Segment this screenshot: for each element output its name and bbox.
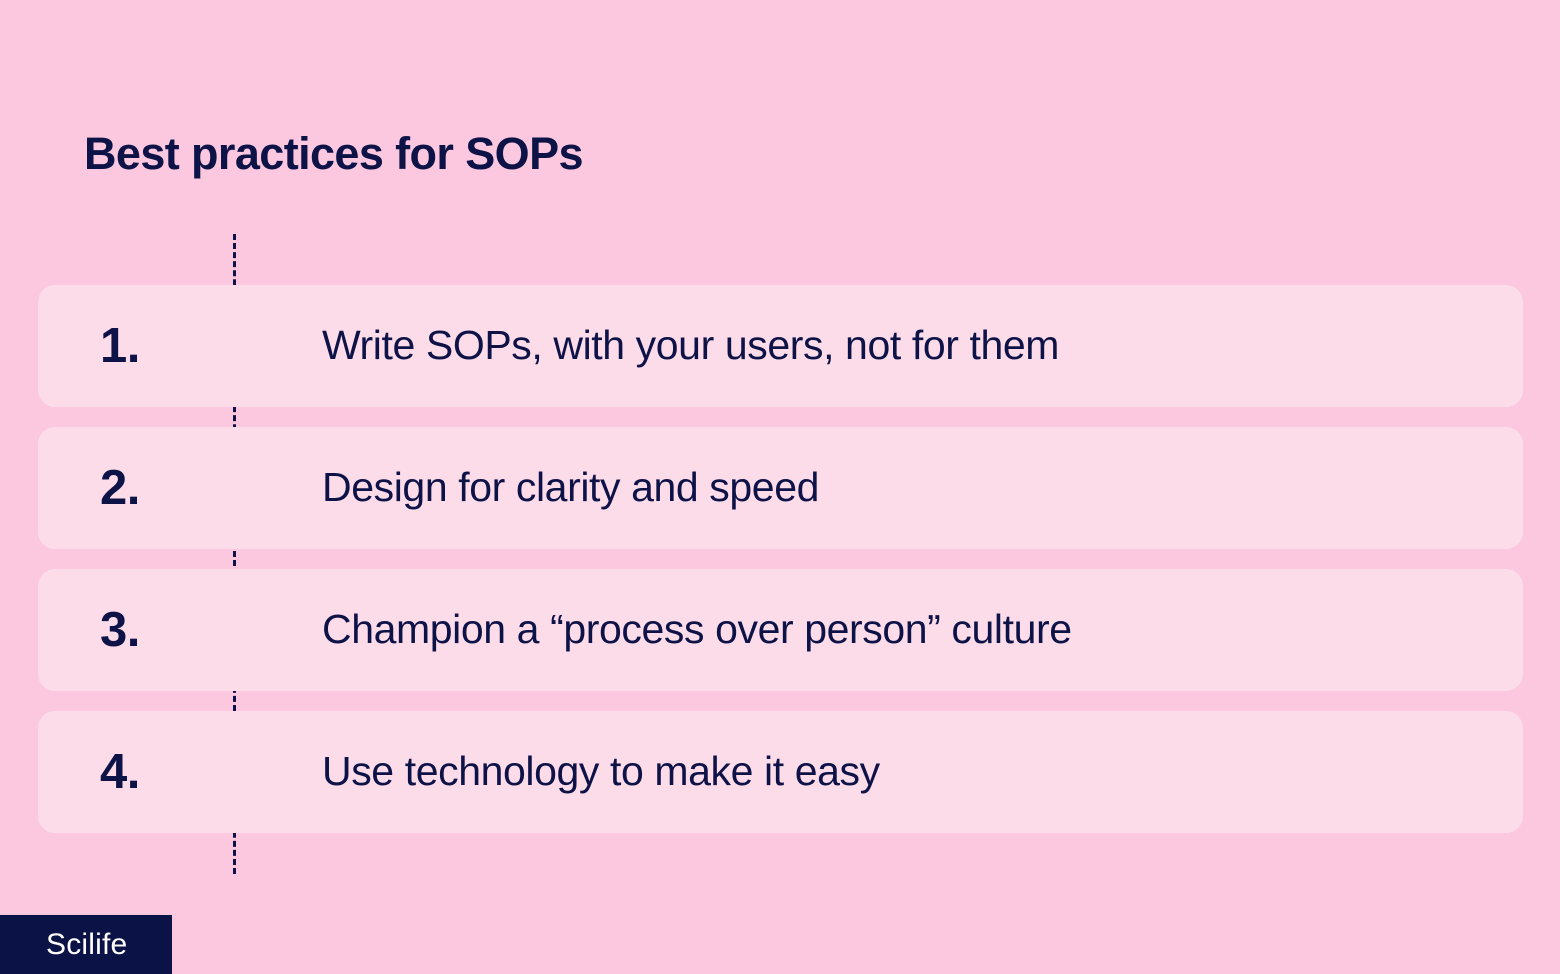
list-item-label: Use technology to make it easy (322, 748, 880, 795)
list-item: 2. Design for clarity and speed (38, 427, 1523, 549)
list-item-number: 3. (100, 606, 210, 655)
list-item-label: Design for clarity and speed (322, 464, 819, 511)
list-item-label: Write SOPs, with your users, not for the… (322, 322, 1059, 369)
list-item-number: 1. (100, 322, 210, 371)
slide-canvas: Best practices for SOPs 1. Write SOPs, w… (0, 0, 1560, 974)
list-item-number: 2. (100, 464, 210, 513)
list-item-label: Champion a “process over person” culture (322, 606, 1072, 653)
list-item: 3. Champion a “process over person” cult… (38, 569, 1523, 691)
list-item: 4. Use technology to make it easy (38, 711, 1523, 833)
best-practices-list: 1. Write SOPs, with your users, not for … (38, 285, 1523, 833)
list-item: 1. Write SOPs, with your users, not for … (38, 285, 1523, 407)
brand-name: Scilife (46, 930, 127, 960)
list-item-number: 4. (100, 748, 210, 797)
brand-logo-badge: Scilife (0, 915, 172, 974)
page-title: Best practices for SOPs (84, 131, 583, 176)
